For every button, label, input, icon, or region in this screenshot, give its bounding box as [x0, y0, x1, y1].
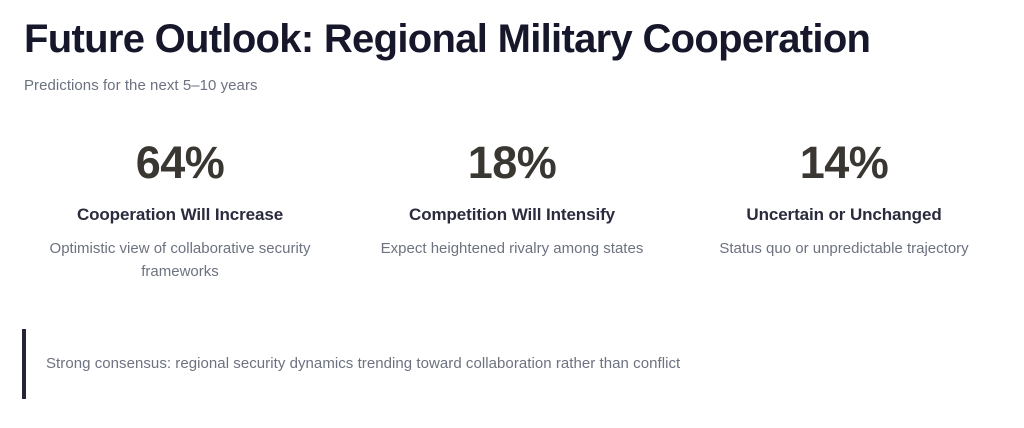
stat-value: 14%	[694, 136, 994, 190]
stat-description: Optimistic view of collaborative securit…	[43, 237, 318, 283]
stat-label: Competition Will Intensify	[362, 204, 662, 226]
page-title: Future Outlook: Regional Military Cooper…	[24, 14, 1006, 64]
page-header: Future Outlook: Regional Military Cooper…	[24, 14, 1006, 96]
page-subtitle: Predictions for the next 5–10 years	[24, 64, 1006, 96]
stat-description: Status quo or unpredictable trajectory	[707, 237, 982, 260]
stat-card-uncertain: 14% Uncertain or Unchanged Status quo or…	[678, 136, 1010, 260]
stat-label: Uncertain or Unchanged	[694, 204, 994, 226]
consensus-callout: Strong consensus: regional security dyna…	[22, 329, 1000, 399]
statistics-row: 64% Cooperation Will Increase Optimistic…	[14, 136, 1010, 283]
stat-card-cooperation: 64% Cooperation Will Increase Optimistic…	[14, 136, 346, 283]
outlook-summary-page: Future Outlook: Regional Military Cooper…	[0, 0, 1024, 428]
stat-value: 18%	[362, 136, 662, 190]
consensus-callout-text: Strong consensus: regional security dyna…	[26, 353, 680, 375]
stat-label: Cooperation Will Increase	[30, 204, 330, 226]
stat-description: Expect heightened rivalry among states	[375, 237, 650, 260]
stat-value: 64%	[30, 136, 330, 190]
stat-card-competition: 18% Competition Will Intensify Expect he…	[346, 136, 678, 260]
